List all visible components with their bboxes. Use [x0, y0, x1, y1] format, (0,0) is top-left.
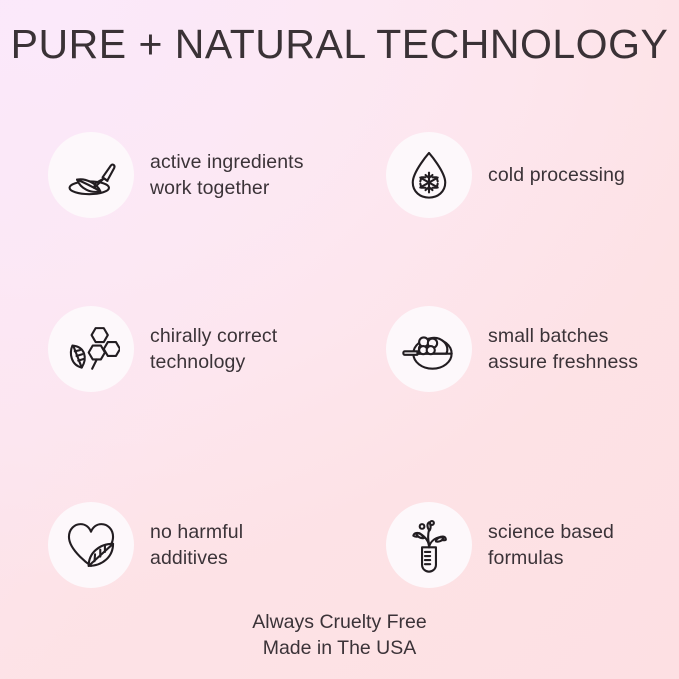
droplet-snowflake-icon — [386, 132, 472, 218]
feature-label-line2: assure freshness — [488, 349, 638, 375]
feature-item-active-ingredients: active ingredients work together — [48, 132, 348, 218]
feature-label: small batches assure freshness — [488, 323, 638, 375]
feature-item-chirally-correct: chirally correct technology — [48, 306, 348, 392]
footer-line-made-in-usa: Made in The USA — [0, 635, 679, 661]
feature-label-line1: science based — [488, 519, 614, 545]
test-tube-plant-icon — [386, 502, 472, 588]
feature-label-line1: small batches — [488, 323, 638, 349]
feature-item-small-batches: small batches assure freshness — [386, 306, 679, 392]
heart-leaf-icon — [48, 502, 134, 588]
molecule-leaf-icon — [48, 306, 134, 392]
footer-text: Always Cruelty Free Made in The USA — [0, 609, 679, 661]
feature-item-science-based: science based formulas — [386, 502, 679, 588]
feature-label-line2: technology — [150, 349, 277, 375]
feature-grid: active ingredients work together — [0, 120, 679, 600]
feature-label: cold processing — [488, 162, 625, 188]
dropper-leaf-dish-icon — [48, 132, 134, 218]
feature-label-line2: additives — [150, 545, 243, 571]
feature-label: chirally correct technology — [150, 323, 277, 375]
feature-label: no harmful additives — [150, 519, 243, 571]
feature-label-line1: no harmful — [150, 519, 243, 545]
feature-item-no-harmful-additives: no harmful additives — [48, 502, 348, 588]
feature-label-line1: chirally correct — [150, 323, 277, 349]
feature-label: active ingredients work together — [150, 149, 304, 201]
footer-line-cruelty-free: Always Cruelty Free — [0, 609, 679, 635]
feature-label: science based formulas — [488, 519, 614, 571]
feature-label-line2: formulas — [488, 545, 614, 571]
spoon-granules-icon — [386, 306, 472, 392]
feature-label-line1: active ingredients — [150, 149, 304, 175]
feature-label-line1: cold processing — [488, 162, 625, 188]
poster-canvas: PURE + NATURAL TECHNOLOGY active ingredi… — [0, 0, 679, 679]
feature-item-cold-processing: cold processing — [386, 132, 679, 218]
feature-label-line2: work together — [150, 175, 304, 201]
page-title: PURE + NATURAL TECHNOLOGY — [0, 22, 679, 68]
